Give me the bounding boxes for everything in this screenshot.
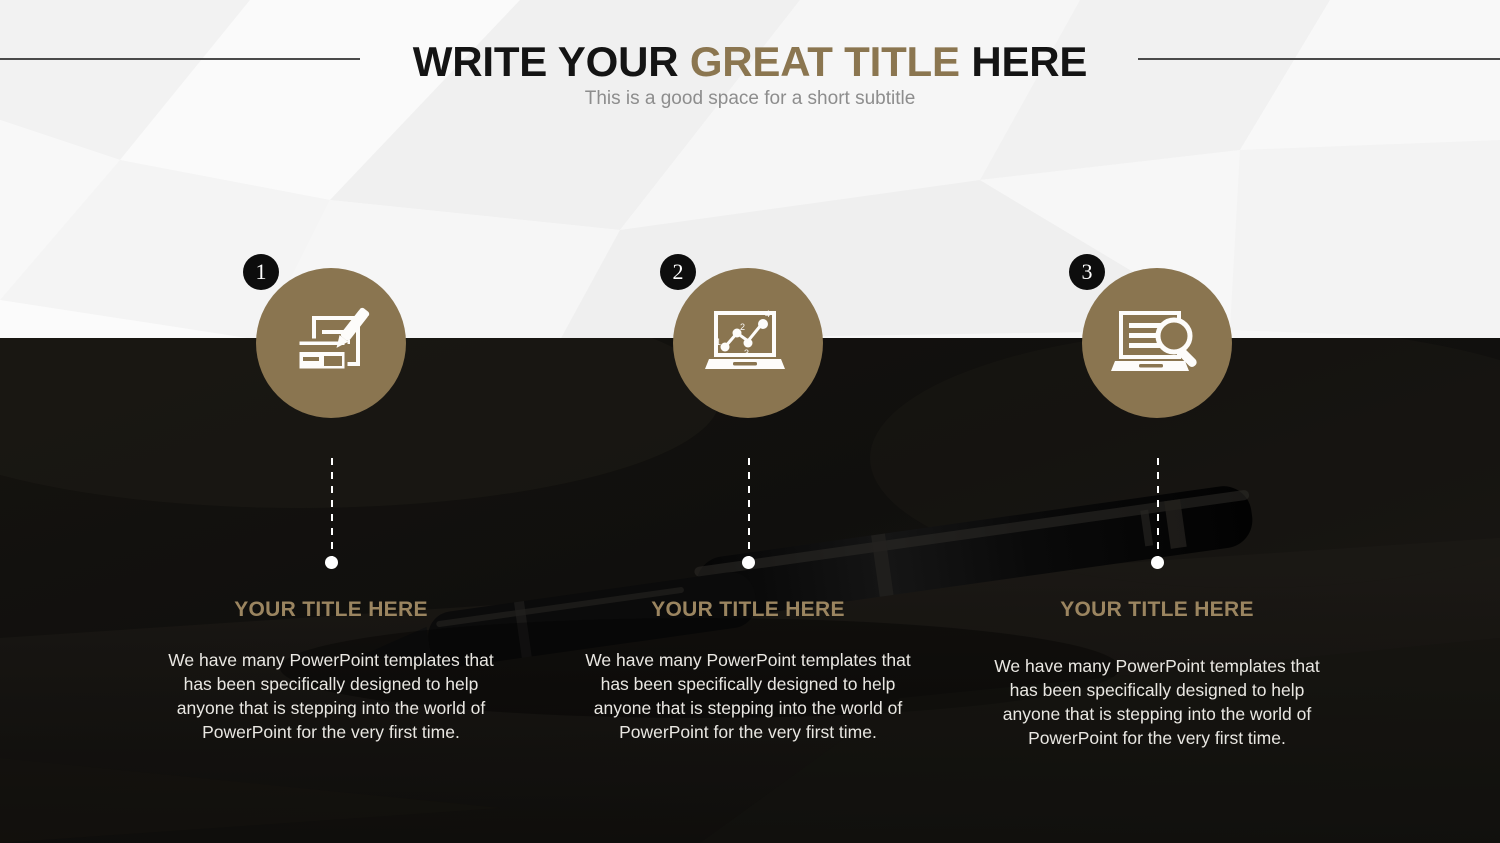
title-part-3: HERE bbox=[960, 38, 1087, 85]
column-body-1: We have many PowerPoint templates that h… bbox=[161, 648, 501, 744]
title-highlight: GREAT TITLE bbox=[690, 38, 960, 85]
slide: WRITE YOUR GREAT TITLE HERE This is a go… bbox=[0, 0, 1500, 843]
step-badge-2: 2 bbox=[660, 254, 696, 290]
connector-line-2 bbox=[748, 458, 750, 558]
column-body-3: We have many PowerPoint templates that h… bbox=[987, 654, 1327, 750]
connector-dot-2 bbox=[742, 556, 755, 569]
connector-line-3 bbox=[1157, 458, 1159, 558]
svg-text:3: 3 bbox=[744, 348, 749, 358]
step-badge-3: 3 bbox=[1069, 254, 1105, 290]
column-title-1: YOUR TITLE HERE bbox=[161, 598, 501, 622]
title-part-1: WRITE YOUR bbox=[413, 38, 690, 85]
connector-dot-3 bbox=[1151, 556, 1164, 569]
svg-text:1: 1 bbox=[716, 337, 721, 347]
svg-text:2: 2 bbox=[740, 322, 745, 332]
check-with-pen-icon bbox=[256, 268, 406, 418]
slide-header: WRITE YOUR GREAT TITLE HERE This is a go… bbox=[0, 0, 1500, 130]
laptop-search-icon bbox=[1082, 268, 1232, 418]
column-title-3: YOUR TITLE HERE bbox=[987, 598, 1327, 622]
column-body-2: We have many PowerPoint templates that h… bbox=[578, 648, 918, 744]
column-title-2: YOUR TITLE HERE bbox=[578, 598, 918, 622]
connector-line-1 bbox=[331, 458, 333, 558]
page-title: WRITE YOUR GREAT TITLE HERE bbox=[0, 38, 1500, 86]
laptop-line-chart-icon: 1 2 3 4 bbox=[673, 268, 823, 418]
svg-text:4: 4 bbox=[765, 309, 770, 319]
connector-dot-1 bbox=[325, 556, 338, 569]
step-badge-1: 1 bbox=[243, 254, 279, 290]
page-subtitle: This is a good space for a short subtitl… bbox=[0, 88, 1500, 110]
